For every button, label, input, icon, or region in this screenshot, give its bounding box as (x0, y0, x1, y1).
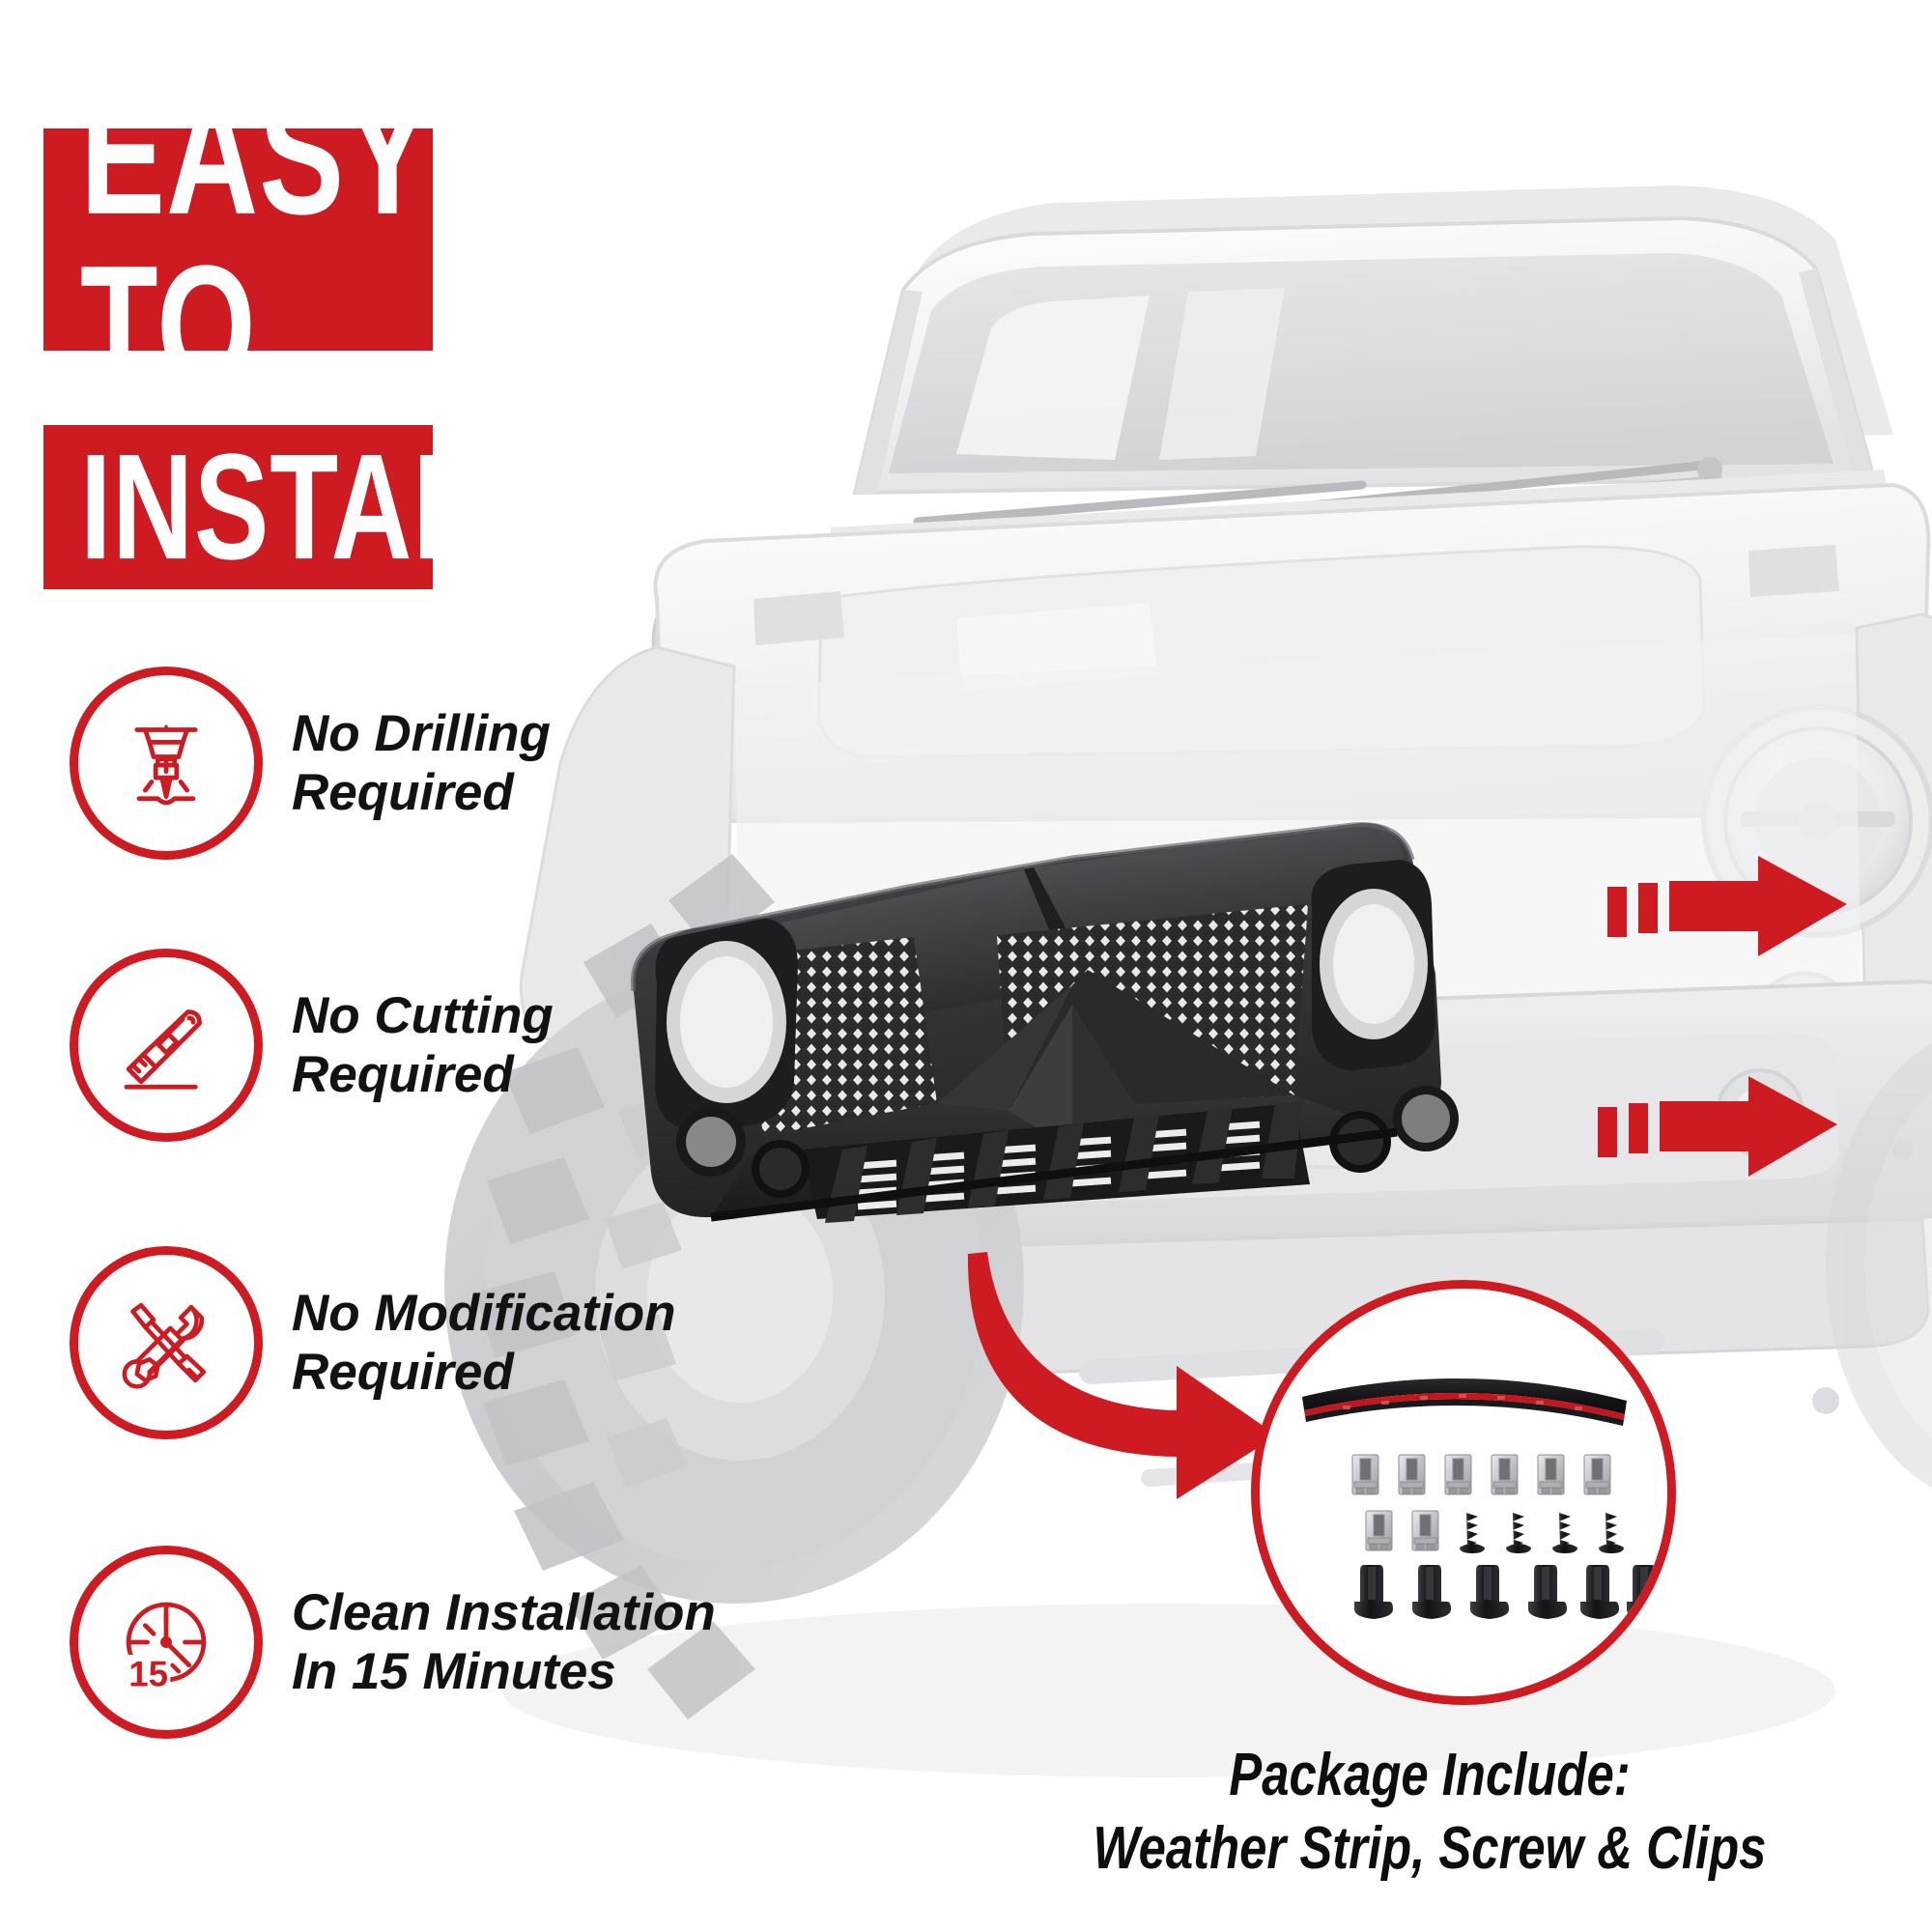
utility-knife-icon (70, 949, 263, 1142)
screw-row (1460, 1513, 1624, 1553)
headline-banner-easy-to: EASY TO (43, 128, 433, 351)
feature-clean-installation: 15 Clean Installation In 15 Minutes (70, 1546, 716, 1739)
package-contents: Weather Strip, Screw & Clips (1049, 1812, 1809, 1886)
product-grille (618, 763, 1507, 1265)
infographic-canvas: RUBICON (0, 0, 1932, 1932)
feature-label: No Drilling Required (292, 704, 551, 823)
package-include-caption: Package Include: Weather Strip, Screw & … (1049, 1739, 1809, 1885)
clock-badge-number: 15 (128, 1654, 168, 1693)
feature-no-modification: No Modification Required (70, 1246, 675, 1439)
feature-label: No Modification Required (292, 1284, 675, 1403)
push-rivet-row (1354, 1565, 1662, 1619)
drill-press-icon (70, 667, 263, 860)
motion-arrow-headlight (1604, 850, 1855, 966)
headlight-cutout-right (1311, 860, 1435, 1070)
headlight-cutout-left (655, 918, 798, 1130)
feature-label: No Cutting Required (292, 986, 554, 1105)
metal-clip-row-2 (1366, 1511, 1438, 1550)
headline-line-2: INSTALL (80, 432, 552, 582)
motion-arrow-fog-light (1594, 1070, 1845, 1186)
feature-label: Clean Installation In 15 Minutes (292, 1583, 716, 1702)
metal-clip-row-1 (1352, 1455, 1610, 1494)
headline-banner-install: INSTALL (43, 425, 433, 589)
feature-no-cutting: No Cutting Required (70, 949, 554, 1142)
headline-line-1: EASY TO (80, 69, 429, 411)
feature-no-drilling: No Drilling Required (70, 667, 551, 860)
wrench-screwdriver-icon (70, 1246, 263, 1439)
package-heading: Package Include: (1049, 1739, 1809, 1812)
clock-15-minutes-icon: 15 (70, 1546, 263, 1739)
included-hardware-circle (1251, 1280, 1676, 1705)
weather-strip-item (1302, 1378, 1627, 1426)
